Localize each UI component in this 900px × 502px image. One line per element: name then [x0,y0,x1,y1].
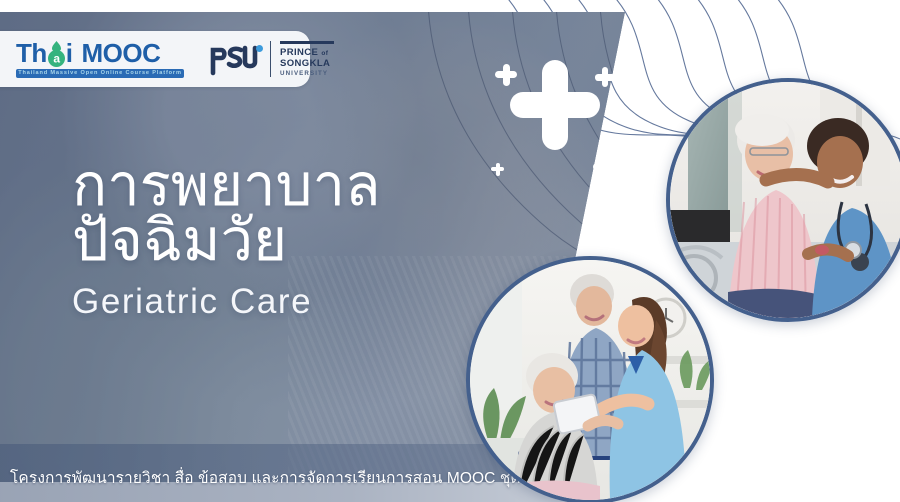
logo-card: Th a i MOOC Thailand Massive Open Online… [0,31,310,87]
thai-mooc-tagline: Thailand Massive Open Online Course Plat… [16,69,184,79]
svg-text:a: a [53,51,60,65]
psu-line-2: SONGKLA [280,58,334,69]
medical-cross-large-icon [510,92,600,118]
thai-mooc-th: Th [16,40,47,66]
psu-wordmark: PRINCE of SONGKLA UNIVERSITY [270,41,334,77]
thai-mooc-wordmark: Th a i MOOC [16,40,160,66]
psu-line-1: PRINCE of [280,47,334,58]
thai-mooc-mooc: MOOC [82,40,161,66]
page-title: การพยาบาล ปัจฉิมวัย Geriatric Care [72,158,381,322]
headline-thai: การพยาบาล ปัจฉิมวัย [72,158,381,268]
medical-cross-small-icon-1 [495,71,517,78]
medical-cross-small-icon-2 [595,74,615,81]
headline-english: Geriatric Care [72,282,381,322]
thai-mooc-logo: Th a i MOOC Thailand Massive Open Online… [16,40,184,79]
psu-monogram-icon [208,42,260,76]
thai-mooc-i: i [66,40,73,66]
psu-line-3: UNIVERSITY [280,70,334,77]
medical-cross-small-icon-3 [593,163,618,171]
photo-nurse-with-elderly-couple [466,256,714,502]
medical-cross-tiny-icon [491,167,504,171]
psu-logo: PRINCE of SONGKLA UNIVERSITY [208,41,334,77]
banner-canvas: โครงการพัฒนารายวิชา สื่อ ข้อสอบ และการจั… [0,0,900,502]
thai-mooc-leaf-a-icon: a [47,46,66,66]
psu-divider-rule [280,41,334,44]
headline-thai-line2: ปัจฉิมวัย [72,213,381,268]
psu-dot-icon [256,45,263,52]
